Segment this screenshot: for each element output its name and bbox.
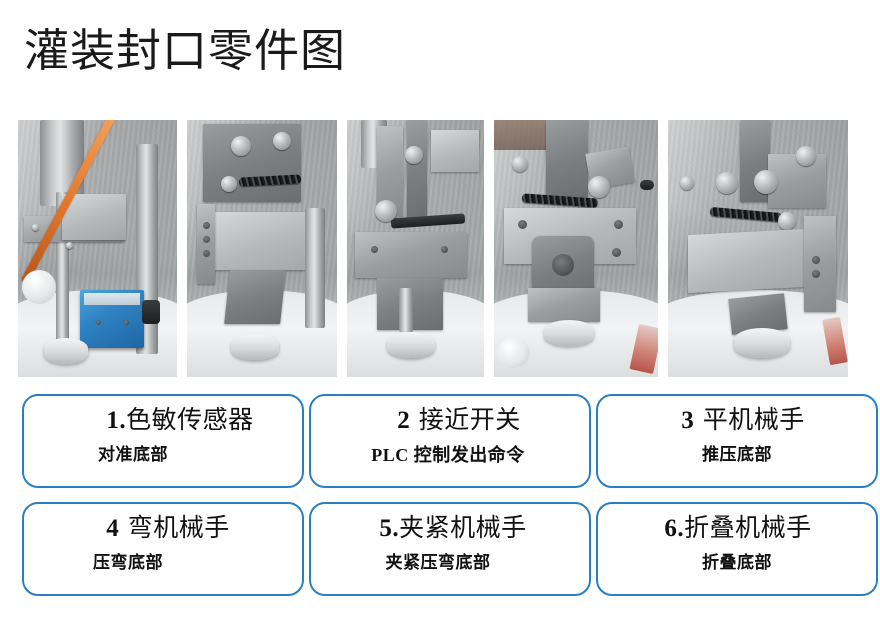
vertical-arm [407,120,427,220]
gripper-jaw [224,270,286,324]
legend-item-5[interactable]: 5.夹紧机械手 夹紧压弯底部 [309,502,591,596]
bolt-head [273,132,291,150]
support-post [305,208,325,328]
pivot-bolt [588,176,610,198]
turntable-puck [544,320,594,346]
bolt-head [754,170,778,194]
side-rail [804,216,836,312]
plate-hole [371,246,378,253]
bolt-head [405,146,423,164]
rail-hole [203,250,210,257]
product-tube [22,270,56,304]
plate-hole [441,246,448,253]
legend-item-3-number: 3 [681,407,694,434]
legend-item-2[interactable]: 2 接近开关 PLC 控制发出命令 [309,394,591,488]
photo-color-sensor [18,120,177,377]
legend-item-3-subtitle: 推压底部 [608,442,866,468]
background-blur [494,120,554,150]
upper-block [431,130,479,172]
photo-fold-manipulator [668,120,848,377]
legend-item-2-title: 2 接近开关 [321,403,579,438]
legend-item-4[interactable]: 4 弯机械手 压弯底部 [22,502,304,596]
bolt-head [796,146,816,166]
slide-plate [211,212,319,270]
gripper-jaw [528,288,600,322]
sensor-screw [96,320,101,325]
poster-root: 灌装封口零件图 [0,0,880,638]
legend-item-6-number: 6. [664,515,684,542]
push-rod [399,288,413,332]
main-plate [355,232,467,278]
turntable-puck [734,328,790,358]
legend-item-5-subtitle: 夹紧压弯底部 [321,550,579,576]
legend-item-3-name: 平机械手 [703,405,805,434]
rail-hole [812,256,820,264]
legend-item-5-number: 5. [379,515,399,542]
legend-item-2-subtitle: PLC 控制发出命令 [321,442,579,468]
cable-end [640,180,654,190]
legend-item-6-title: 6.折叠机械手 [608,511,866,546]
rail-hole [812,270,820,278]
legend-item-1-title: 1.色敏传感器 [34,403,292,438]
plate-hole [518,220,527,229]
legend-grid: 1.色敏传感器 对准底部 2 接近开关 PLC 控制发出命令 3 平机械手 推压… [22,394,860,596]
bolt-head [231,136,251,156]
clamp-bore [552,254,574,276]
turntable-puck [44,338,88,364]
product-tube [496,338,530,368]
legend-item-4-number: 4 [106,515,119,542]
legend-item-6-name: 折叠机械手 [684,513,812,542]
bolt-head [221,176,237,192]
rail-hole [203,236,210,243]
legend-item-1-name: 色敏传感器 [126,405,254,434]
fold-plate [688,229,804,293]
plate-hole [612,248,621,257]
turntable-puck [231,334,279,360]
legend-item-1-subtitle: 对准底部 [34,442,292,468]
color-sensor-body [80,290,144,348]
legend-item-4-name: 弯机械手 [128,513,230,542]
bolt-head [512,156,528,172]
rail-hole [203,222,210,229]
legend-item-2-name: 接近开关 [419,405,521,434]
sensor-connector [142,300,160,324]
photo-proximity-switch [187,120,337,377]
legend-item-2-number: 2 [397,407,410,434]
photo-bend-manipulator [494,120,658,377]
pivot-bolt [375,200,397,222]
legend-item-5-title: 5.夹紧机械手 [321,511,579,546]
legend-item-4-subtitle: 压弯底部 [34,550,292,576]
vertical-arm [546,120,588,198]
turntable-puck [387,332,435,358]
bolt-head [66,242,73,249]
bolt-head [680,176,694,190]
legend-item-3[interactable]: 3 平机械手 推压底部 [596,394,878,488]
sensor-label [84,293,140,305]
legend-item-1-number: 1. [106,407,126,434]
legend-item-1[interactable]: 1.色敏传感器 对准底部 [22,394,304,488]
spring-anchor-bolt [778,212,796,230]
legend-item-5-name: 夹紧机械手 [399,513,527,542]
sensor-screw [124,320,129,325]
plate-hole [614,220,623,229]
bolt-head [32,224,39,231]
side-rail [197,204,215,284]
photo-flat-manipulator [347,120,484,377]
photo-strip [18,120,838,377]
legend-item-6-subtitle: 折叠底部 [608,550,866,576]
bolt-head [716,172,738,194]
legend-item-3-title: 3 平机械手 [608,403,866,438]
page-title: 灌装封口零件图 [24,22,346,80]
legend-item-6[interactable]: 6.折叠机械手 折叠底部 [596,502,878,596]
legend-item-4-title: 4 弯机械手 [34,511,292,546]
